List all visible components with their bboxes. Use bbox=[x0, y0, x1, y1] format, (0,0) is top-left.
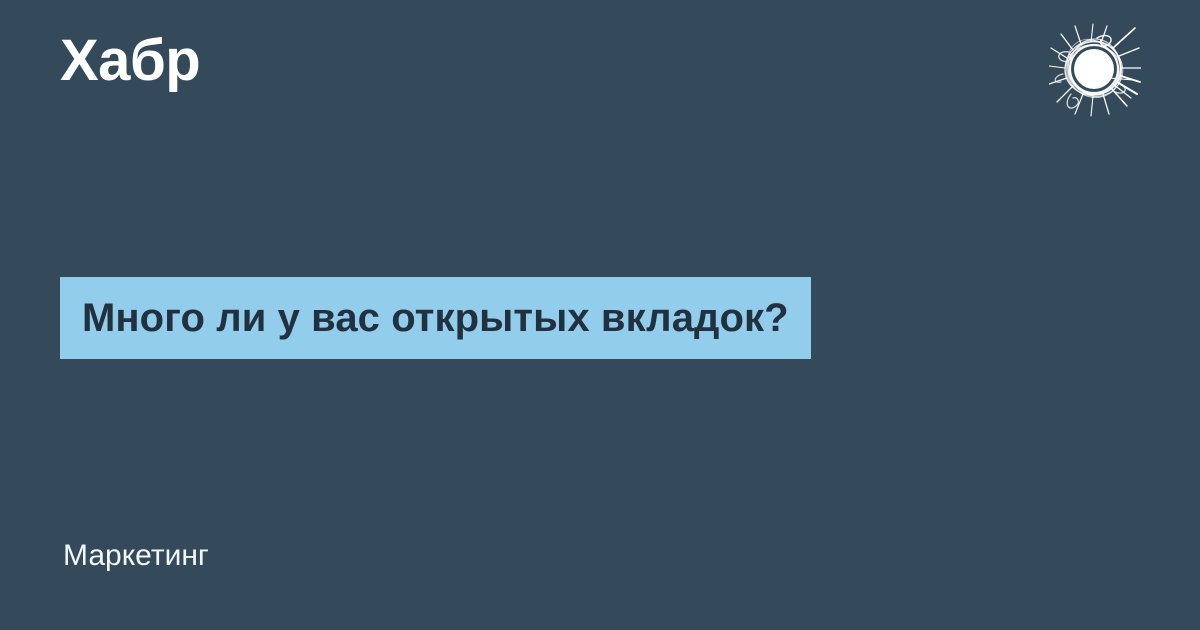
brand-wordmark: Хабр bbox=[60, 26, 200, 96]
social-share-card: Хабр bbox=[0, 0, 1200, 630]
page-title: Много ли у вас открытых вкладок? bbox=[60, 277, 811, 359]
page-title-container: Много ли у вас открытых вкладок? bbox=[60, 277, 811, 359]
hub-label: Маркетинг bbox=[63, 537, 209, 575]
scribble-ball-icon bbox=[1049, 22, 1141, 118]
